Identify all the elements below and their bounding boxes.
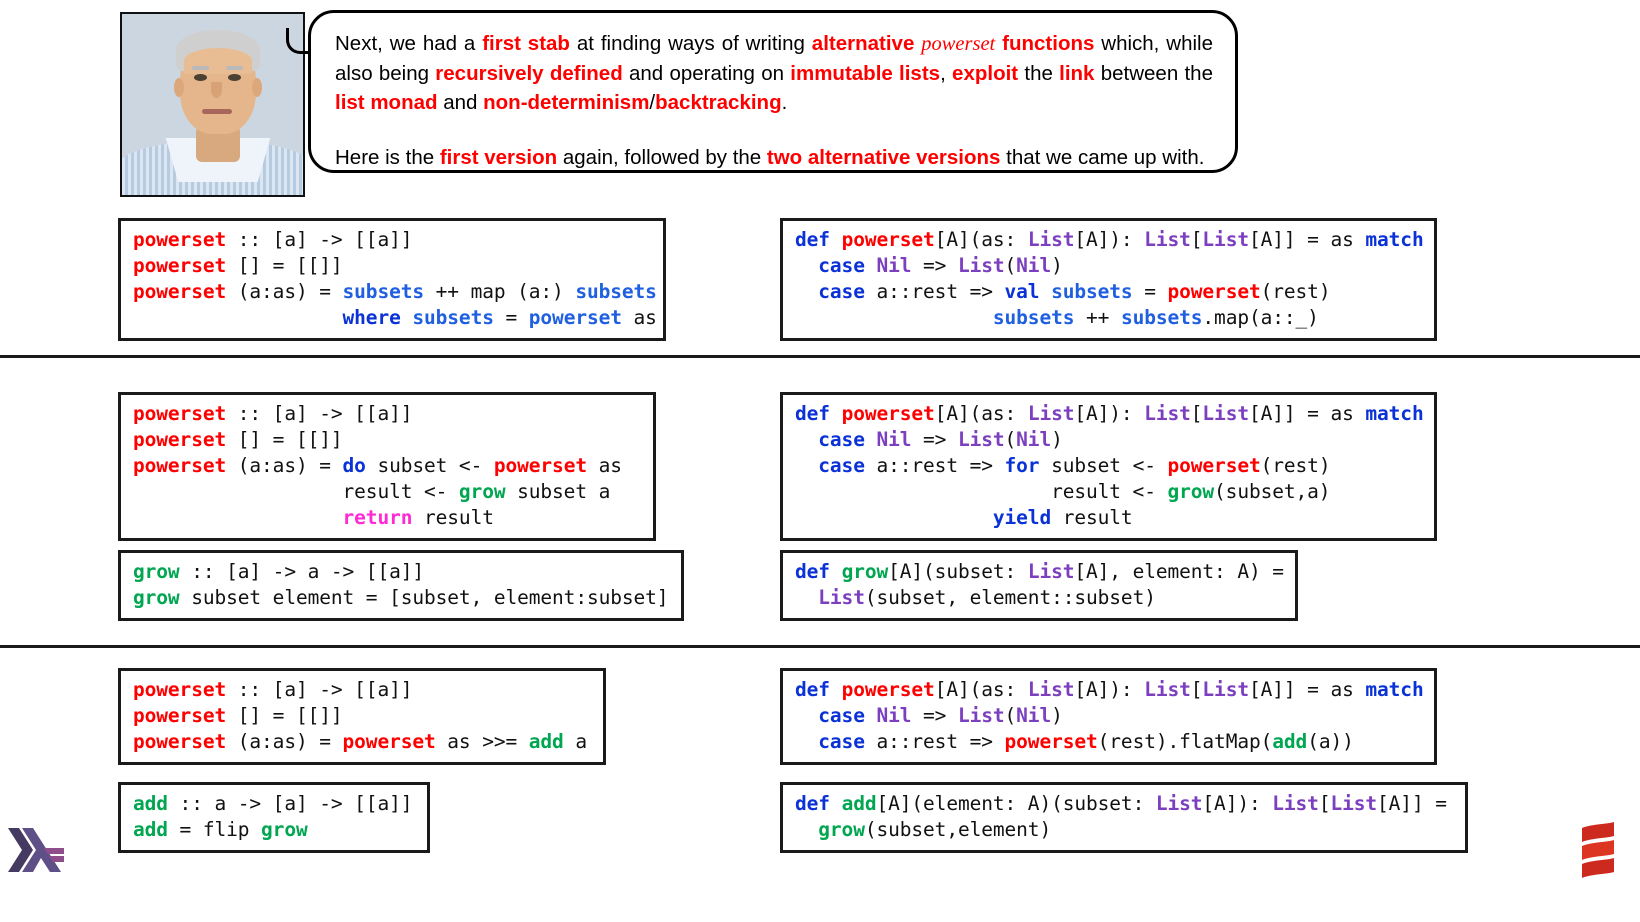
code-token: a	[564, 730, 587, 753]
code-token: List	[1330, 792, 1377, 815]
code-token: List	[1144, 402, 1191, 425]
code-token: powerset	[133, 228, 226, 251]
code-token: =>	[911, 428, 958, 451]
code-token: subsets	[1051, 280, 1132, 303]
code-token: = flip	[168, 818, 261, 841]
code-block-haskell-powerset-v2: powerset :: [a] -> [[a]]powerset [] = [[…	[118, 392, 656, 541]
code-token	[1039, 280, 1051, 303]
code-token: def	[795, 792, 830, 815]
code-block-scala-powerset-v3: def powerset[A](as: List[A]): List[List[…	[780, 668, 1437, 765]
emphasis-text: exploit	[952, 62, 1018, 85]
code-token: =	[494, 306, 529, 329]
code-token	[795, 818, 818, 841]
code-token	[133, 306, 343, 329]
code-token: [	[1319, 792, 1331, 815]
code-token: a::rest =>	[865, 454, 1005, 477]
code-token: powerset	[842, 678, 935, 701]
code-token: powerset	[494, 454, 587, 477]
code-token: List	[1202, 402, 1249, 425]
code-token: result	[412, 506, 493, 529]
code-token	[830, 560, 842, 583]
code-token: [A]] = as	[1249, 678, 1365, 701]
code-token: case	[818, 454, 865, 477]
code-token: add	[529, 730, 564, 753]
code-token: add	[842, 792, 877, 815]
code-token: (a))	[1307, 730, 1354, 753]
code-block-scala-powerset-v1: def powerset[A](as: List[A]): List[List[…	[780, 218, 1437, 341]
code-line: return result	[133, 505, 643, 531]
emphasis-text: first stab	[482, 32, 570, 55]
code-block-haskell-powerset-v3: powerset :: [a] -> [[a]]powerset [] = [[…	[118, 668, 606, 765]
code-line: powerset (a:as) = subsets ++ map (a:) su…	[133, 279, 653, 305]
haskell-logo-icon	[8, 828, 64, 872]
code-block-haskell-add: add :: a -> [a] -> [[a]]add = flip grow	[118, 782, 430, 853]
code-line: def add[A](element: A)(subset: List[A]):…	[795, 791, 1455, 817]
code-token: [A]):	[1074, 678, 1144, 701]
code-block-scala-powerset-v2: def powerset[A](as: List[A]): List[List[…	[780, 392, 1437, 541]
code-token: [	[1191, 228, 1203, 251]
code-token: (	[1005, 254, 1017, 277]
code-token: :: [a] -> [[a]]	[226, 678, 412, 701]
code-token: for	[1005, 454, 1040, 477]
code-token: =>	[911, 254, 958, 277]
code-token: powerset	[842, 402, 935, 425]
emphasis-text: powerset	[921, 33, 995, 55]
code-token	[795, 428, 818, 451]
emphasis-text: functions	[995, 32, 1094, 55]
emphasis-text: alternative	[812, 32, 921, 55]
emphasis-text: first version	[440, 146, 557, 169]
code-token: powerset	[133, 280, 226, 303]
code-token: [A], element: A) =	[1074, 560, 1284, 583]
code-token: List	[1272, 792, 1319, 815]
code-token: List	[1028, 560, 1075, 583]
photo-mouth	[202, 109, 232, 114]
code-token: Nil	[876, 254, 911, 277]
code-token	[865, 428, 877, 451]
photo-forehead	[184, 48, 252, 74]
code-token: def	[795, 228, 830, 251]
code-line: grow(subset,element)	[795, 817, 1455, 843]
code-token: List	[1028, 678, 1075, 701]
code-token: subset <-	[366, 454, 494, 477]
emphasis-text: link	[1059, 62, 1094, 85]
code-line: powerset [] = [[]]	[133, 427, 643, 453]
code-line: powerset :: [a] -> [[a]]	[133, 677, 593, 703]
code-token: (a:as) =	[226, 730, 342, 753]
code-token: powerset	[133, 730, 226, 753]
code-token: [] = [[]]	[226, 254, 342, 277]
code-token: Nil	[1016, 428, 1051, 451]
code-token	[795, 704, 818, 727]
code-line: case a::rest => val subsets = powerset(r…	[795, 279, 1424, 305]
code-token: (a:as) =	[226, 280, 342, 303]
code-token: as >>=	[436, 730, 529, 753]
code-token: (subset,a)	[1214, 480, 1330, 503]
code-token: powerset	[343, 730, 436, 753]
slide-canvas: Next, we had a first stab at finding way…	[0, 0, 1640, 922]
code-token: :: a -> [a] -> [[a]]	[168, 792, 412, 815]
code-token: List	[958, 254, 1005, 277]
code-line: add :: a -> [a] -> [[a]]	[133, 791, 417, 817]
code-token: case	[818, 280, 865, 303]
code-token	[865, 254, 877, 277]
code-token: grow	[133, 586, 180, 609]
code-token: =	[1133, 280, 1168, 303]
code-token: List	[1202, 228, 1249, 251]
code-token: def	[795, 678, 830, 701]
code-line: def powerset[A](as: List[A]): List[List[…	[795, 401, 1424, 427]
code-token: [A](as:	[935, 678, 1028, 701]
code-token: List	[818, 586, 865, 609]
code-line: powerset :: [a] -> [[a]]	[133, 401, 643, 427]
code-token: result <-	[133, 480, 459, 503]
code-token: add	[133, 818, 168, 841]
code-token: [A]] = as	[1249, 402, 1365, 425]
code-token: result <-	[795, 480, 1167, 503]
code-token: subsets	[1121, 306, 1202, 329]
code-token: powerset	[1005, 730, 1098, 753]
code-token: grow	[1167, 480, 1214, 503]
code-token: as	[622, 306, 657, 329]
code-token: case	[818, 704, 865, 727]
code-token: a::rest =>	[865, 280, 1005, 303]
section-divider-2	[0, 645, 1640, 648]
code-token	[133, 506, 343, 529]
code-token: powerset	[133, 678, 226, 701]
code-token: grow	[133, 560, 180, 583]
code-line: yield result	[795, 505, 1424, 531]
code-token: where	[343, 306, 401, 329]
code-token: subset a	[505, 480, 610, 503]
code-token: [A](as:	[935, 402, 1028, 425]
code-token: ++	[1074, 306, 1121, 329]
code-token	[830, 402, 842, 425]
code-token	[795, 454, 818, 477]
code-line: case Nil => List(Nil)	[795, 427, 1424, 453]
code-token	[795, 730, 818, 753]
code-token: [	[1191, 402, 1203, 425]
code-token: ++ map (a:)	[424, 280, 575, 303]
code-line: case a::rest => for subset <- powerset(r…	[795, 453, 1424, 479]
code-line: powerset [] = [[]]	[133, 253, 653, 279]
code-token: subset <-	[1039, 454, 1167, 477]
code-token: [A]] = as	[1249, 228, 1365, 251]
code-token: result	[1051, 506, 1132, 529]
code-token: a::rest =>	[865, 730, 1005, 753]
photo-brow-right	[226, 66, 243, 70]
code-token: [A]):	[1074, 402, 1144, 425]
code-token: grow	[261, 818, 308, 841]
code-token	[865, 704, 877, 727]
code-line: powerset :: [a] -> [[a]]	[133, 227, 653, 253]
code-token: )	[1051, 704, 1063, 727]
code-token: Nil	[1016, 704, 1051, 727]
code-token: (a:as) =	[226, 454, 342, 477]
code-token: [A]] =	[1377, 792, 1447, 815]
code-token: (	[1005, 428, 1017, 451]
code-token: [A](as:	[935, 228, 1028, 251]
code-token: grow	[842, 560, 889, 583]
section-divider-1	[0, 355, 1640, 358]
code-token: (subset,element)	[865, 818, 1051, 841]
code-token: powerset	[1168, 280, 1261, 303]
emphasis-text: backtracking	[655, 91, 781, 114]
emphasis-text: recursively defined	[435, 62, 622, 85]
code-token: powerset	[133, 402, 226, 425]
code-token: :: [a] -> [[a]]	[226, 228, 412, 251]
code-token	[830, 792, 842, 815]
photo-brow-left	[192, 66, 209, 70]
speaker-photo	[120, 12, 305, 197]
emphasis-text: list monad	[335, 91, 438, 114]
code-token: match	[1365, 678, 1423, 701]
code-token: List	[958, 704, 1005, 727]
code-token: case	[818, 428, 865, 451]
code-line: subsets ++ subsets.map(a::_)	[795, 305, 1424, 331]
code-line: powerset (a:as) = do subset <- powerset …	[133, 453, 643, 479]
code-token: subsets	[993, 306, 1074, 329]
code-token: grow	[818, 818, 865, 841]
emphasis-text: non-determinism	[483, 91, 649, 114]
code-token: Nil	[1016, 254, 1051, 277]
bubble-paragraph-1: Next, we had a first stab at finding way…	[335, 29, 1213, 117]
code-line: grow subset element = [subset, element:s…	[133, 585, 671, 611]
code-token	[795, 280, 818, 303]
code-token: powerset	[529, 306, 622, 329]
code-token: powerset	[133, 428, 226, 451]
code-token: as	[587, 454, 622, 477]
code-token	[795, 306, 993, 329]
code-token: powerset	[133, 254, 226, 277]
code-block-haskell-grow: grow :: [a] -> a -> [[a]]grow subset ele…	[118, 550, 684, 621]
code-token: def	[795, 560, 830, 583]
code-token: [] = [[]]	[226, 704, 342, 727]
code-token: List	[958, 428, 1005, 451]
code-token: do	[343, 454, 366, 477]
code-token: List	[1028, 402, 1075, 425]
code-line: powerset [] = [[]]	[133, 703, 593, 729]
code-token: (rest)	[1261, 280, 1331, 303]
code-token: match	[1365, 228, 1423, 251]
code-line: case Nil => List(Nil)	[795, 703, 1424, 729]
code-token: case	[818, 730, 865, 753]
code-token: subset element = [subset, element:subset…	[180, 586, 669, 609]
code-token	[795, 586, 818, 609]
code-token: def	[795, 402, 830, 425]
code-block-scala-grow: def grow[A](subset: List[A], element: A)…	[780, 550, 1298, 621]
code-token: Nil	[876, 428, 911, 451]
code-line: def powerset[A](as: List[A]): List[List[…	[795, 677, 1424, 703]
photo-eye-left	[194, 74, 207, 81]
code-token: powerset	[133, 454, 226, 477]
code-token: powerset	[133, 704, 226, 727]
code-token: List	[1028, 228, 1075, 251]
photo-ear-right	[252, 78, 262, 97]
code-block-scala-add: def add[A](element: A)(subset: List[A]):…	[780, 782, 1468, 853]
code-token: :: [a] -> a -> [[a]]	[180, 560, 424, 583]
code-token: [A]):	[1202, 792, 1272, 815]
code-token: powerset	[1168, 454, 1261, 477]
code-token	[401, 306, 413, 329]
speech-bubble: Next, we had a first stab at finding way…	[308, 10, 1238, 173]
bubble-paragraph-2: Here is the first version again, followe…	[335, 143, 1213, 172]
code-token: List	[1156, 792, 1203, 815]
code-token: List	[1202, 678, 1249, 701]
code-line: result <- grow subset a	[133, 479, 643, 505]
code-token	[795, 254, 818, 277]
code-token: yield	[993, 506, 1051, 529]
code-token: case	[818, 254, 865, 277]
code-token: [A](subset:	[888, 560, 1028, 583]
code-token: :: [a] -> [[a]]	[226, 402, 412, 425]
code-token: subsets	[343, 280, 424, 303]
code-token	[795, 506, 993, 529]
scala-logo-icon	[1578, 822, 1618, 878]
code-token: add	[133, 792, 168, 815]
code-line: result <- grow(subset,a)	[795, 479, 1424, 505]
code-token: powerset	[842, 228, 935, 251]
emphasis-text: immutable lists	[790, 62, 940, 85]
code-token: List	[1144, 228, 1191, 251]
photo-nose	[211, 82, 222, 98]
code-line: def powerset[A](as: List[A]): List[List[…	[795, 227, 1424, 253]
code-token: List	[1144, 678, 1191, 701]
code-token: =>	[911, 704, 958, 727]
emphasis-text: two alternative versions	[767, 146, 1001, 169]
code-token: Nil	[876, 704, 911, 727]
code-token: [	[1191, 678, 1203, 701]
code-token: )	[1051, 254, 1063, 277]
code-line: List(subset, element::subset)	[795, 585, 1285, 611]
code-token: (	[1005, 704, 1017, 727]
code-token: (rest)	[1261, 454, 1331, 477]
photo-ear-left	[174, 78, 184, 97]
code-line: case a::rest => powerset(rest).flatMap(a…	[795, 729, 1424, 755]
code-line: add = flip grow	[133, 817, 417, 843]
code-token: grow	[459, 480, 506, 503]
code-token: .map(a::_)	[1202, 306, 1318, 329]
code-token: return	[343, 506, 413, 529]
code-token: match	[1365, 402, 1423, 425]
code-token: [A]):	[1074, 228, 1144, 251]
code-token: val	[1005, 280, 1040, 303]
code-line: where subsets = powerset as	[133, 305, 653, 331]
code-token: [] = [[]]	[226, 428, 342, 451]
code-token: )	[1051, 428, 1063, 451]
code-token: subsets	[575, 280, 656, 303]
code-line: powerset (a:as) = powerset as >>= add a	[133, 729, 593, 755]
code-token	[830, 678, 842, 701]
code-line: grow :: [a] -> a -> [[a]]	[133, 559, 671, 585]
code-block-haskell-powerset-v1: powerset :: [a] -> [[a]]powerset [] = [[…	[118, 218, 666, 341]
code-token: (subset, element::subset)	[865, 586, 1156, 609]
code-token: subsets	[412, 306, 493, 329]
code-token: add	[1272, 730, 1307, 753]
code-token: [A](element: A)(subset:	[876, 792, 1155, 815]
code-line: def grow[A](subset: List[A], element: A)…	[795, 559, 1285, 585]
code-line: case Nil => List(Nil)	[795, 253, 1424, 279]
code-token	[830, 228, 842, 251]
code-token: (rest).flatMap(	[1098, 730, 1273, 753]
photo-eye-right	[228, 74, 241, 81]
